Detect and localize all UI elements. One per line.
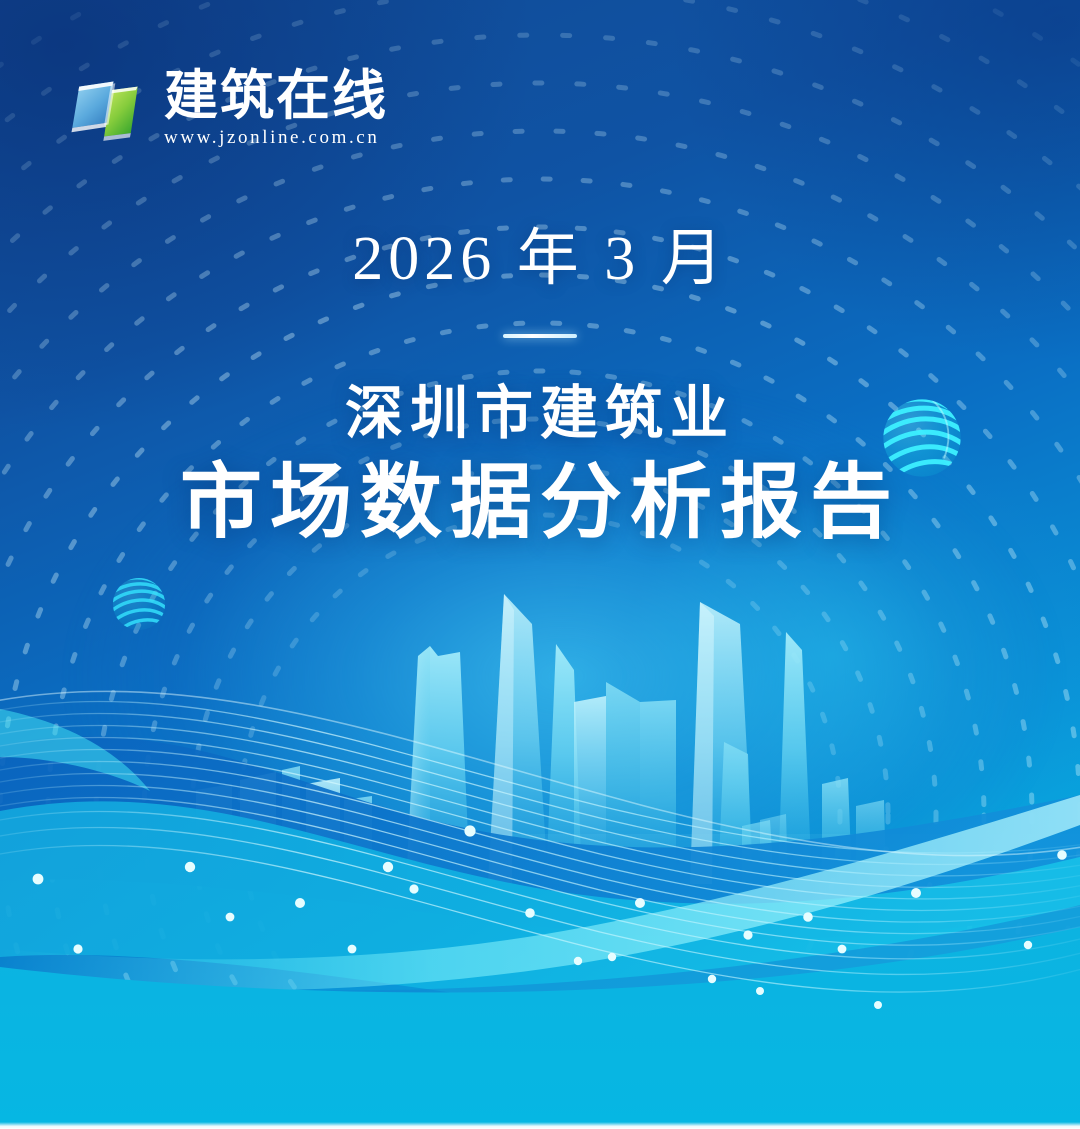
- bottom-white-edge: [0, 1122, 1080, 1129]
- logo-text-block: 建筑在线 www.jzonline.com.cn: [164, 69, 388, 149]
- horizontal-rule-divider: [503, 334, 577, 338]
- report-cover-poster: 建筑在线 www.jzonline.com.cn 2026 年 3 月 深圳市建…: [0, 0, 1080, 1129]
- logo-name: 建筑在线: [164, 69, 388, 124]
- site-logo[interactable]: 建筑在线 www.jzonline.com.cn: [62, 66, 388, 152]
- logo-url: www.jzonline.com.cn: [164, 127, 379, 149]
- background-vignette: [0, 0, 1080, 1129]
- report-date: 2026 年 3 月: [0, 228, 1080, 290]
- cover-headline: 2026 年 3 月 深圳市建筑业 市场数据分析报告: [0, 228, 1080, 549]
- overlapping-parallelograms-icon: [62, 66, 148, 152]
- page-title-line-2: 市场数据分析报告: [0, 457, 1080, 549]
- page-title-line-1: 深圳市建筑业: [0, 382, 1080, 447]
